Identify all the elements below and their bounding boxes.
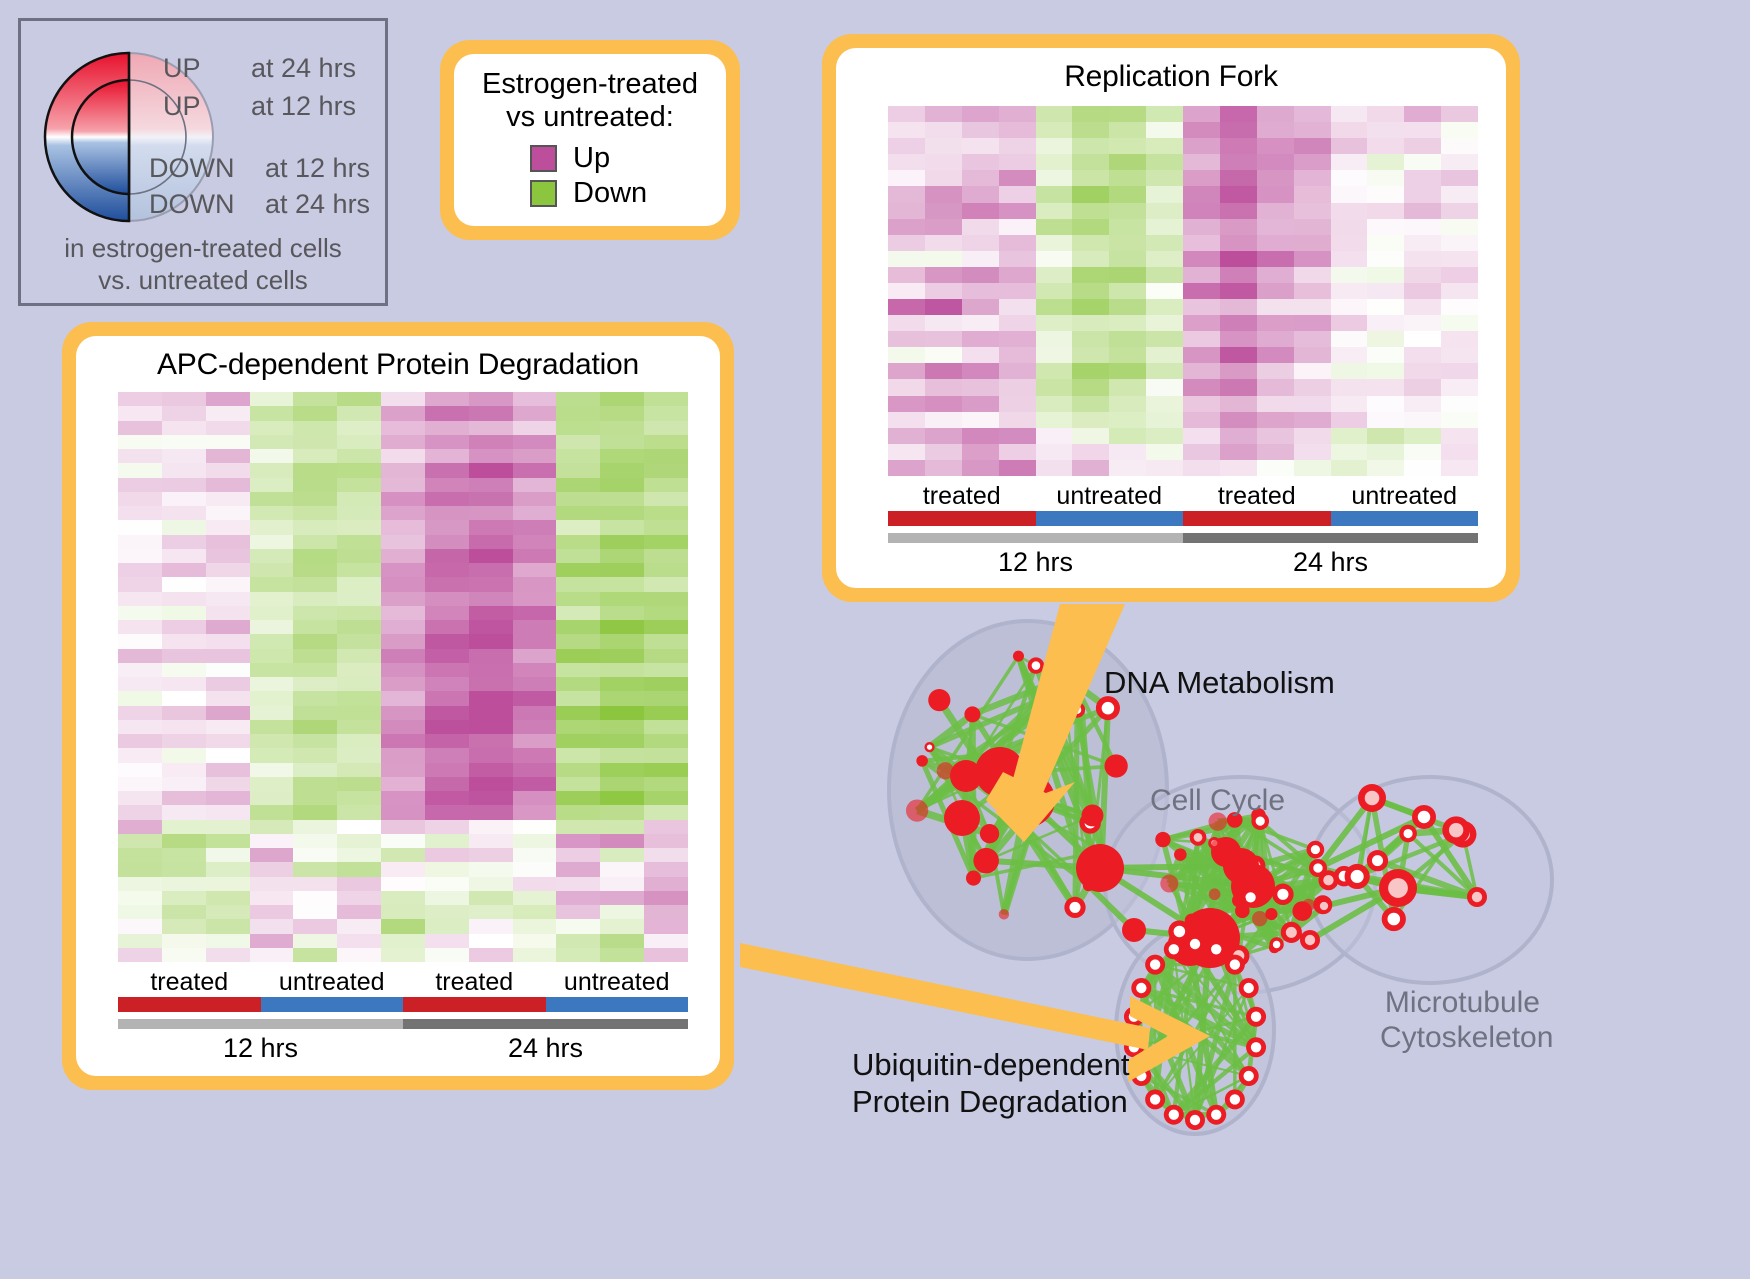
color-key-row-1-time: at 12 hrs: [251, 91, 356, 122]
apc-heatmap: [118, 392, 688, 962]
color-key-row-0-time: at 24 hrs: [251, 53, 356, 84]
apc-annotations: treated untreated treated untreated 12 h…: [118, 968, 688, 1064]
apc-bar-treated-24: [403, 997, 546, 1012]
apc-time-labels: 12 hrs 24 hrs: [118, 1033, 688, 1064]
rf-time-bar-24: [1183, 533, 1478, 543]
legend-item-down: Down: [530, 177, 716, 210]
rf-time-bar-12: [888, 533, 1183, 543]
apc-sample-label-2: treated: [403, 968, 546, 997]
color-key-row-3-label: DOWN: [149, 189, 234, 220]
apc-time-label-12: 12 hrs: [118, 1033, 403, 1064]
replication-fork-title: Replication Fork: [836, 48, 1506, 94]
color-key-legend: UP at 24 hrs UP at 12 hrs DOWN at 12 hrs…: [18, 18, 388, 306]
apc-sample-labels: treated untreated treated untreated: [118, 968, 688, 997]
rf-time-label-12: 12 hrs: [888, 547, 1183, 578]
apc-sample-label-1: untreated: [261, 968, 404, 997]
color-key-footer-line1: in estrogen-treated cells: [21, 233, 385, 265]
cluster-label-ub-line2: Protein Degradation: [852, 1083, 1130, 1120]
cluster-label-ub-line1: Ubiquitin-dependent: [852, 1046, 1130, 1083]
apc-bar-treated-12: [118, 997, 261, 1012]
rf-time-labels: 12 hrs 24 hrs: [888, 547, 1478, 578]
down-swatch-icon: [530, 180, 557, 207]
rf-sample-label-2: treated: [1183, 482, 1331, 511]
legend-item-up: Up: [530, 142, 716, 175]
apc-time-bar-12: [118, 1019, 403, 1029]
replication-fork-heatmap: [888, 106, 1478, 476]
rf-time-bar: [888, 533, 1478, 543]
apc-treatment-bar: [118, 997, 688, 1012]
color-key-footer: in estrogen-treated cells vs. untreated …: [21, 233, 385, 296]
cluster-label-mt-line2: Cytoskeleton: [1380, 1020, 1540, 1055]
rf-bar-treated-24: [1183, 511, 1331, 526]
updown-legend-heading-line2: vs untreated:: [464, 101, 716, 134]
rf-bar-treated-12: [888, 511, 1036, 526]
color-key-row-2-time: at 12 hrs: [265, 153, 370, 184]
cluster-label-ubiquitin-dependent: Ubiquitin-dependent Protein Degradation: [852, 1046, 1130, 1120]
rf-sample-label-0: treated: [888, 482, 1036, 511]
color-key-row-2-label: DOWN: [149, 153, 234, 184]
updown-legend-heading-line1: Estrogen-treated: [464, 68, 716, 101]
apc-time-bar-24: [403, 1019, 688, 1029]
apc-time-bar: [118, 1019, 688, 1029]
legend-item-up-label: Up: [573, 142, 610, 175]
apc-bar-untreated-24: [546, 997, 689, 1012]
updown-legend-items: Up Down: [464, 142, 716, 210]
up-swatch-icon: [530, 145, 557, 172]
rf-sample-label-3: untreated: [1331, 482, 1479, 511]
apc-sample-label-3: untreated: [546, 968, 689, 997]
apc-sample-label-0: treated: [118, 968, 261, 997]
updown-legend-panel: Estrogen-treated vs untreated: Up Down: [440, 40, 740, 240]
rf-bar-untreated-12: [1036, 511, 1184, 526]
color-key-row-3-time: at 24 hrs: [265, 189, 370, 220]
cluster-label-cell-cycle: Cell Cycle: [1150, 784, 1285, 818]
legend-item-down-label: Down: [573, 177, 647, 210]
rf-bar-untreated-24: [1331, 511, 1479, 526]
color-key-footer-line2: vs. untreated cells: [21, 265, 385, 297]
updown-legend-heading: Estrogen-treated vs untreated:: [464, 68, 716, 134]
rf-sample-label-1: untreated: [1036, 482, 1184, 511]
apc-bar-untreated-12: [261, 997, 404, 1012]
rf-time-label-24: 24 hrs: [1183, 547, 1478, 578]
cluster-label-dna-metabolism: DNA Metabolism: [1104, 665, 1335, 701]
apc-title: APC-dependent Protein Degradation: [76, 336, 720, 382]
replication-fork-annotations: treated untreated treated untreated 12 h…: [888, 482, 1478, 578]
cluster-label-microtubule-cytoskeleton: Microtubule Cytoskeleton: [1380, 985, 1540, 1056]
apc-time-label-24: 24 hrs: [403, 1033, 688, 1064]
panel-apc-dependent: APC-dependent Protein Degradation treate…: [62, 322, 734, 1090]
rf-sample-labels: treated untreated treated untreated: [888, 482, 1478, 511]
panel-replication-fork: Replication Fork treated untreated treat…: [822, 34, 1520, 602]
color-key-row-0-label: UP: [163, 53, 201, 84]
color-key-row-1-label: UP: [163, 91, 201, 122]
rf-treatment-bar: [888, 511, 1478, 526]
cluster-label-mt-line1: Microtubule: [1380, 985, 1540, 1020]
